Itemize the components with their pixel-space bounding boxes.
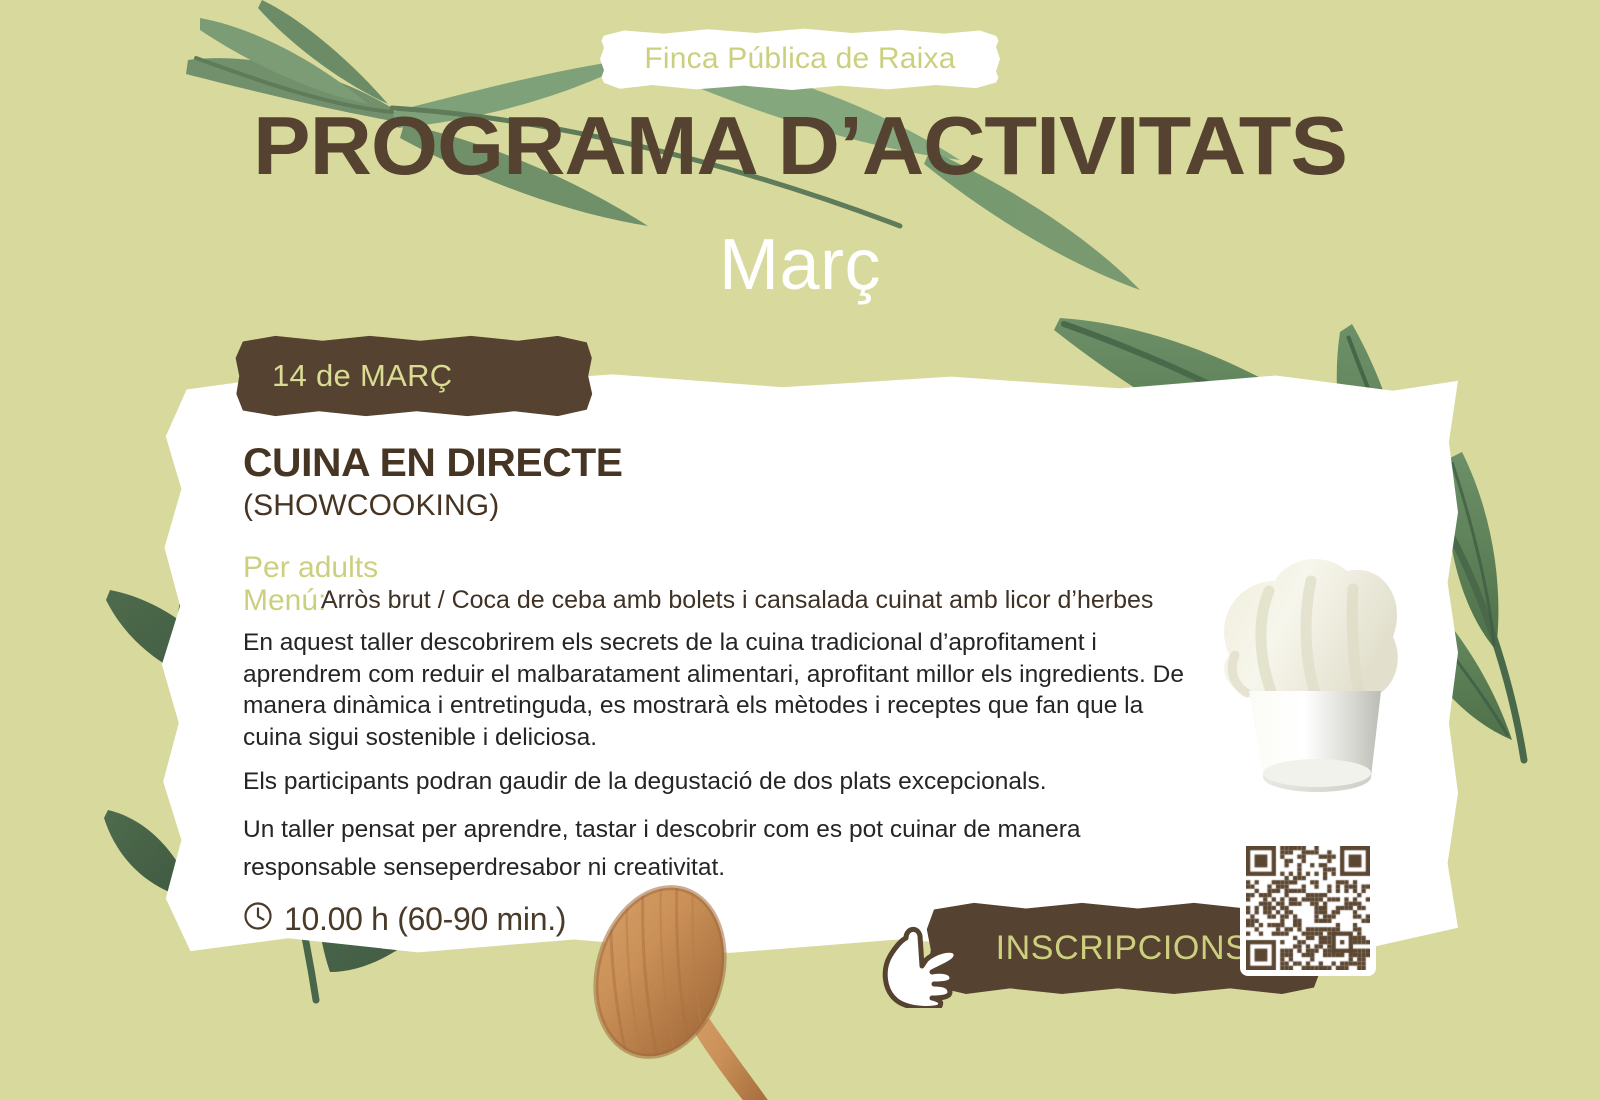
inscripcions-label: INSCRIPCIONS bbox=[996, 929, 1249, 968]
activity-subtitle: (SHOWCOOKING) bbox=[243, 487, 1203, 525]
chef-hat-icon bbox=[1195, 545, 1425, 820]
qr-code-canvas bbox=[1246, 846, 1370, 970]
eyebrow-banner: Finca Pública de Raixa bbox=[600, 28, 1000, 90]
description-paragraph-2: Els participants podran gaudir de la deg… bbox=[243, 766, 1198, 798]
poster-canvas: Finca Pública de Raixa PROGRAMA D’ACTIVI… bbox=[0, 0, 1600, 1100]
date-badge: 14 de MARÇ bbox=[232, 335, 594, 417]
page-title: PROGRAMA D’ACTIVITATS bbox=[0, 100, 1600, 192]
description-paragraph-3: Un taller pensat per aprendre, tastar i … bbox=[243, 811, 1203, 887]
audience-label: Per adults bbox=[243, 551, 378, 584]
month-label: Març bbox=[0, 222, 1600, 308]
venue-name: Finca Pública de Raixa bbox=[600, 28, 1000, 90]
description-paragraph-1: En aquest taller descobrirem els secrets… bbox=[243, 627, 1198, 753]
activity-title: CUINA EN DIRECTE bbox=[243, 440, 1222, 486]
time-label: 10.00 h (60-90 min.) bbox=[284, 901, 566, 937]
event-details: CUINA EN DIRECTE (SHOWCOOKING) Per adult… bbox=[243, 440, 1203, 937]
date-badge-label: 14 de MARÇ bbox=[272, 358, 452, 394]
qr-code[interactable] bbox=[1240, 840, 1376, 976]
menu-text: Arròs brut / Coca de ceba amb bolets i c… bbox=[321, 584, 1153, 617]
audience-menu-block: Per adults Menú: Arròs brut / Coca de ce… bbox=[243, 551, 1203, 613]
menu-label: Menú: bbox=[243, 584, 326, 617]
clock-icon bbox=[243, 901, 273, 936]
wooden-spoon-icon bbox=[575, 880, 775, 1100]
pointing-hand-icon bbox=[880, 912, 960, 1013]
